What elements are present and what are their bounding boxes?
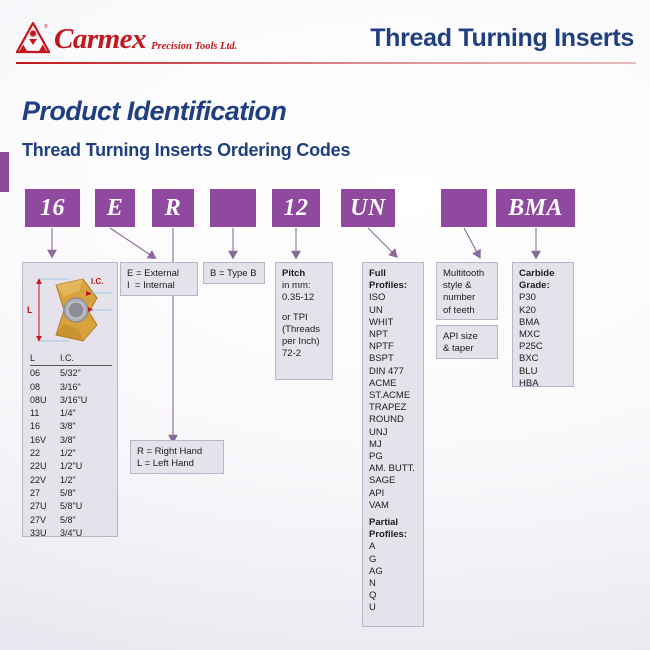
cell-l: 22 (30, 447, 60, 460)
profile-item: PG (369, 451, 417, 463)
profile-item: DIN 477 (369, 366, 417, 378)
dim-ic-label: I.C. (91, 277, 103, 286)
profile-item: NPT (369, 329, 417, 341)
profile-item: TRAPEZ (369, 402, 417, 414)
code-box-hand[interactable]: R (152, 189, 194, 227)
api-taper-line: & taper (443, 343, 491, 355)
callout-carbide-grade: Carbide Grade: P30 K20 BMA MXC P25C BXC … (512, 262, 574, 387)
carbide-grade-item: BMA (519, 317, 567, 329)
pitch-unit: in mm: (282, 280, 326, 292)
table-header-row: L I.C. (30, 352, 112, 366)
cell-ic: 5/8" (60, 514, 110, 527)
carbide-grade-item: MXC (519, 329, 567, 341)
profile-item: ROUND (369, 414, 417, 426)
profile-item: MJ (369, 439, 417, 451)
multitooth-line: style & (443, 280, 491, 292)
callout-type-b: B = Type B (203, 262, 265, 284)
profile-item: AM. BUTT. (369, 463, 417, 475)
table-row: 27U5/8"U (30, 500, 112, 513)
callout-api-size: API size & taper (436, 325, 498, 359)
carbide-grade-item: HBA (519, 378, 567, 390)
code-box-grade[interactable]: BMA (496, 189, 575, 227)
profile-item: ST.ACME (369, 390, 417, 402)
carbide-grade-item: P25C (519, 341, 567, 353)
left-accent-tab (0, 152, 9, 192)
profile-item: ACME (369, 378, 417, 390)
brand-name: Carmex (54, 25, 146, 54)
cell-ic: 5/8" (60, 487, 110, 500)
page-header: ® Carmex Precision Tools Ltd. Thread Tur… (0, 0, 650, 70)
table-row: 221/2" (30, 447, 112, 460)
callout-external-internal: E = External I = Internal (120, 262, 198, 296)
int-line: I = Internal (127, 280, 191, 292)
carbide-title: Carbide (519, 268, 554, 279)
page-title: Product Identification (22, 96, 286, 127)
size-table: L I.C. 065/32" 083/16" 08U3/16"U 111/4" … (30, 352, 112, 540)
cell-ic: 1/2" (60, 474, 110, 487)
table-row: 33U3/4"U (30, 527, 112, 540)
profile-item: API (369, 488, 417, 500)
table-row: 08U3/16"U (30, 394, 112, 407)
header-title: Thread Turning Inserts (370, 24, 634, 53)
api-size-line: API size (443, 331, 491, 343)
dim-l-label: L (27, 305, 33, 315)
table-row: 083/16" (30, 381, 112, 394)
profile-item: SAGE (369, 475, 417, 487)
profile-item: NPTF (369, 341, 417, 353)
cell-ic: 3/8" (60, 434, 110, 447)
partial-profile-item: N (369, 578, 417, 590)
cell-l: 16 (30, 420, 60, 433)
cell-ic: 3/16"U (60, 394, 110, 407)
pitch-perinch: per Inch) (282, 336, 326, 348)
table-row: 16V3/8" (30, 434, 112, 447)
pitch-tpi: or TPI (282, 312, 326, 324)
code-box-pitch[interactable]: 12 (272, 189, 320, 227)
profile-item: WHIT (369, 317, 417, 329)
page-subtitle: Thread Turning Inserts Ordering Codes (22, 140, 350, 161)
callout-right-left-hand: R = Right Hand L = Left Hand (130, 440, 224, 474)
cell-l: 06 (30, 367, 60, 380)
table-row: 065/32" (30, 367, 112, 380)
carmex-triangle-icon: ® (16, 22, 50, 54)
multitooth-line: number (443, 292, 491, 304)
partial-profiles-title2: Profiles: (369, 529, 407, 540)
profile-item: UN (369, 305, 417, 317)
multitooth-line: of teeth (443, 305, 491, 317)
pitch-range: 0.35-12 (282, 292, 326, 304)
cell-l: 08 (30, 381, 60, 394)
partial-profiles-title: Partial (369, 517, 398, 528)
table-row: 27V5/8" (30, 514, 112, 527)
brand-tagline: Precision Tools Ltd. (151, 42, 237, 53)
cell-ic: 3/4"U (60, 527, 110, 540)
pitch-title: Pitch (282, 268, 305, 279)
cell-l: 27V (30, 514, 60, 527)
code-box-type[interactable] (210, 189, 256, 227)
svg-text:®: ® (44, 23, 48, 30)
cell-l: 11 (30, 407, 60, 420)
cell-ic: 1/2"U (60, 460, 110, 473)
profile-item: UNJ (369, 427, 417, 439)
profile-item: ISO (369, 292, 417, 304)
multitooth-line: Multitooth (443, 268, 491, 280)
carbide-grade-item: K20 (519, 305, 567, 317)
table-row: 22V1/2" (30, 474, 112, 487)
cell-l: 22U (30, 460, 60, 473)
partial-profile-item: U (369, 602, 417, 614)
cell-ic: 3/16" (60, 381, 110, 394)
pitch-spacer (282, 305, 326, 312)
partial-profile-item: A (369, 541, 417, 553)
cell-ic: 5/8"U (60, 500, 110, 513)
carbide-grade-item: BXC (519, 353, 567, 365)
right-hand-line: R = Right Hand (137, 446, 217, 458)
code-box-multitooth[interactable] (441, 189, 487, 227)
code-box-size[interactable]: 16 (25, 189, 80, 227)
carbide-grade-item: BLU (519, 366, 567, 378)
col-header-ic: I.C. (60, 352, 110, 365)
partial-profile-item: AG (369, 566, 417, 578)
callout-pitch: Pitch in mm: 0.35-12 or TPI (Threads per… (275, 262, 333, 380)
cell-l: 27 (30, 487, 60, 500)
header-divider (16, 62, 636, 64)
full-profiles-title: Full (369, 268, 386, 279)
cell-l: 08U (30, 394, 60, 407)
col-header-l: L (30, 352, 60, 365)
cell-ic: 3/8" (60, 420, 110, 433)
brand-logo: ® Carmex Precision Tools Ltd. (16, 22, 237, 54)
cell-l: 22V (30, 474, 60, 487)
code-box-ext-int[interactable]: E (95, 189, 135, 227)
callout-multitooth: Multitooth style & number of teeth (436, 262, 498, 320)
table-row: 22U1/2"U (30, 460, 112, 473)
code-box-profile[interactable]: UN (341, 189, 395, 227)
ext-line: E = External (127, 268, 191, 280)
carbide-title2: Grade: (519, 280, 550, 291)
table-row: 275/8" (30, 487, 112, 500)
pitch-tpi-range: 72-2 (282, 348, 326, 360)
full-profiles-title2: Profiles: (369, 280, 407, 291)
cell-l: 27U (30, 500, 60, 513)
cell-ic: 5/32" (60, 367, 110, 380)
profile-item: VAM (369, 500, 417, 512)
callout-profiles: Full Profiles: ISO UN WHIT NPT NPTF BSPT… (362, 262, 424, 627)
type-b-line: B = Type B (210, 268, 258, 280)
pitch-threads: (Threads (282, 324, 326, 336)
profile-item: BSPT (369, 353, 417, 365)
cell-l: 33U (30, 527, 60, 540)
page-canvas: ® Carmex Precision Tools Ltd. Thread Tur… (0, 0, 650, 650)
cell-ic: 1/2" (60, 447, 110, 460)
cell-l: 16V (30, 434, 60, 447)
carbide-grade-item: P30 (519, 292, 567, 304)
left-hand-line: L = Left Hand (137, 458, 217, 470)
partial-profile-item: Q (369, 590, 417, 602)
table-row: 163/8" (30, 420, 112, 433)
table-row: 111/4" (30, 407, 112, 420)
cell-ic: 1/4" (60, 407, 110, 420)
partial-profile-item: G (369, 554, 417, 566)
